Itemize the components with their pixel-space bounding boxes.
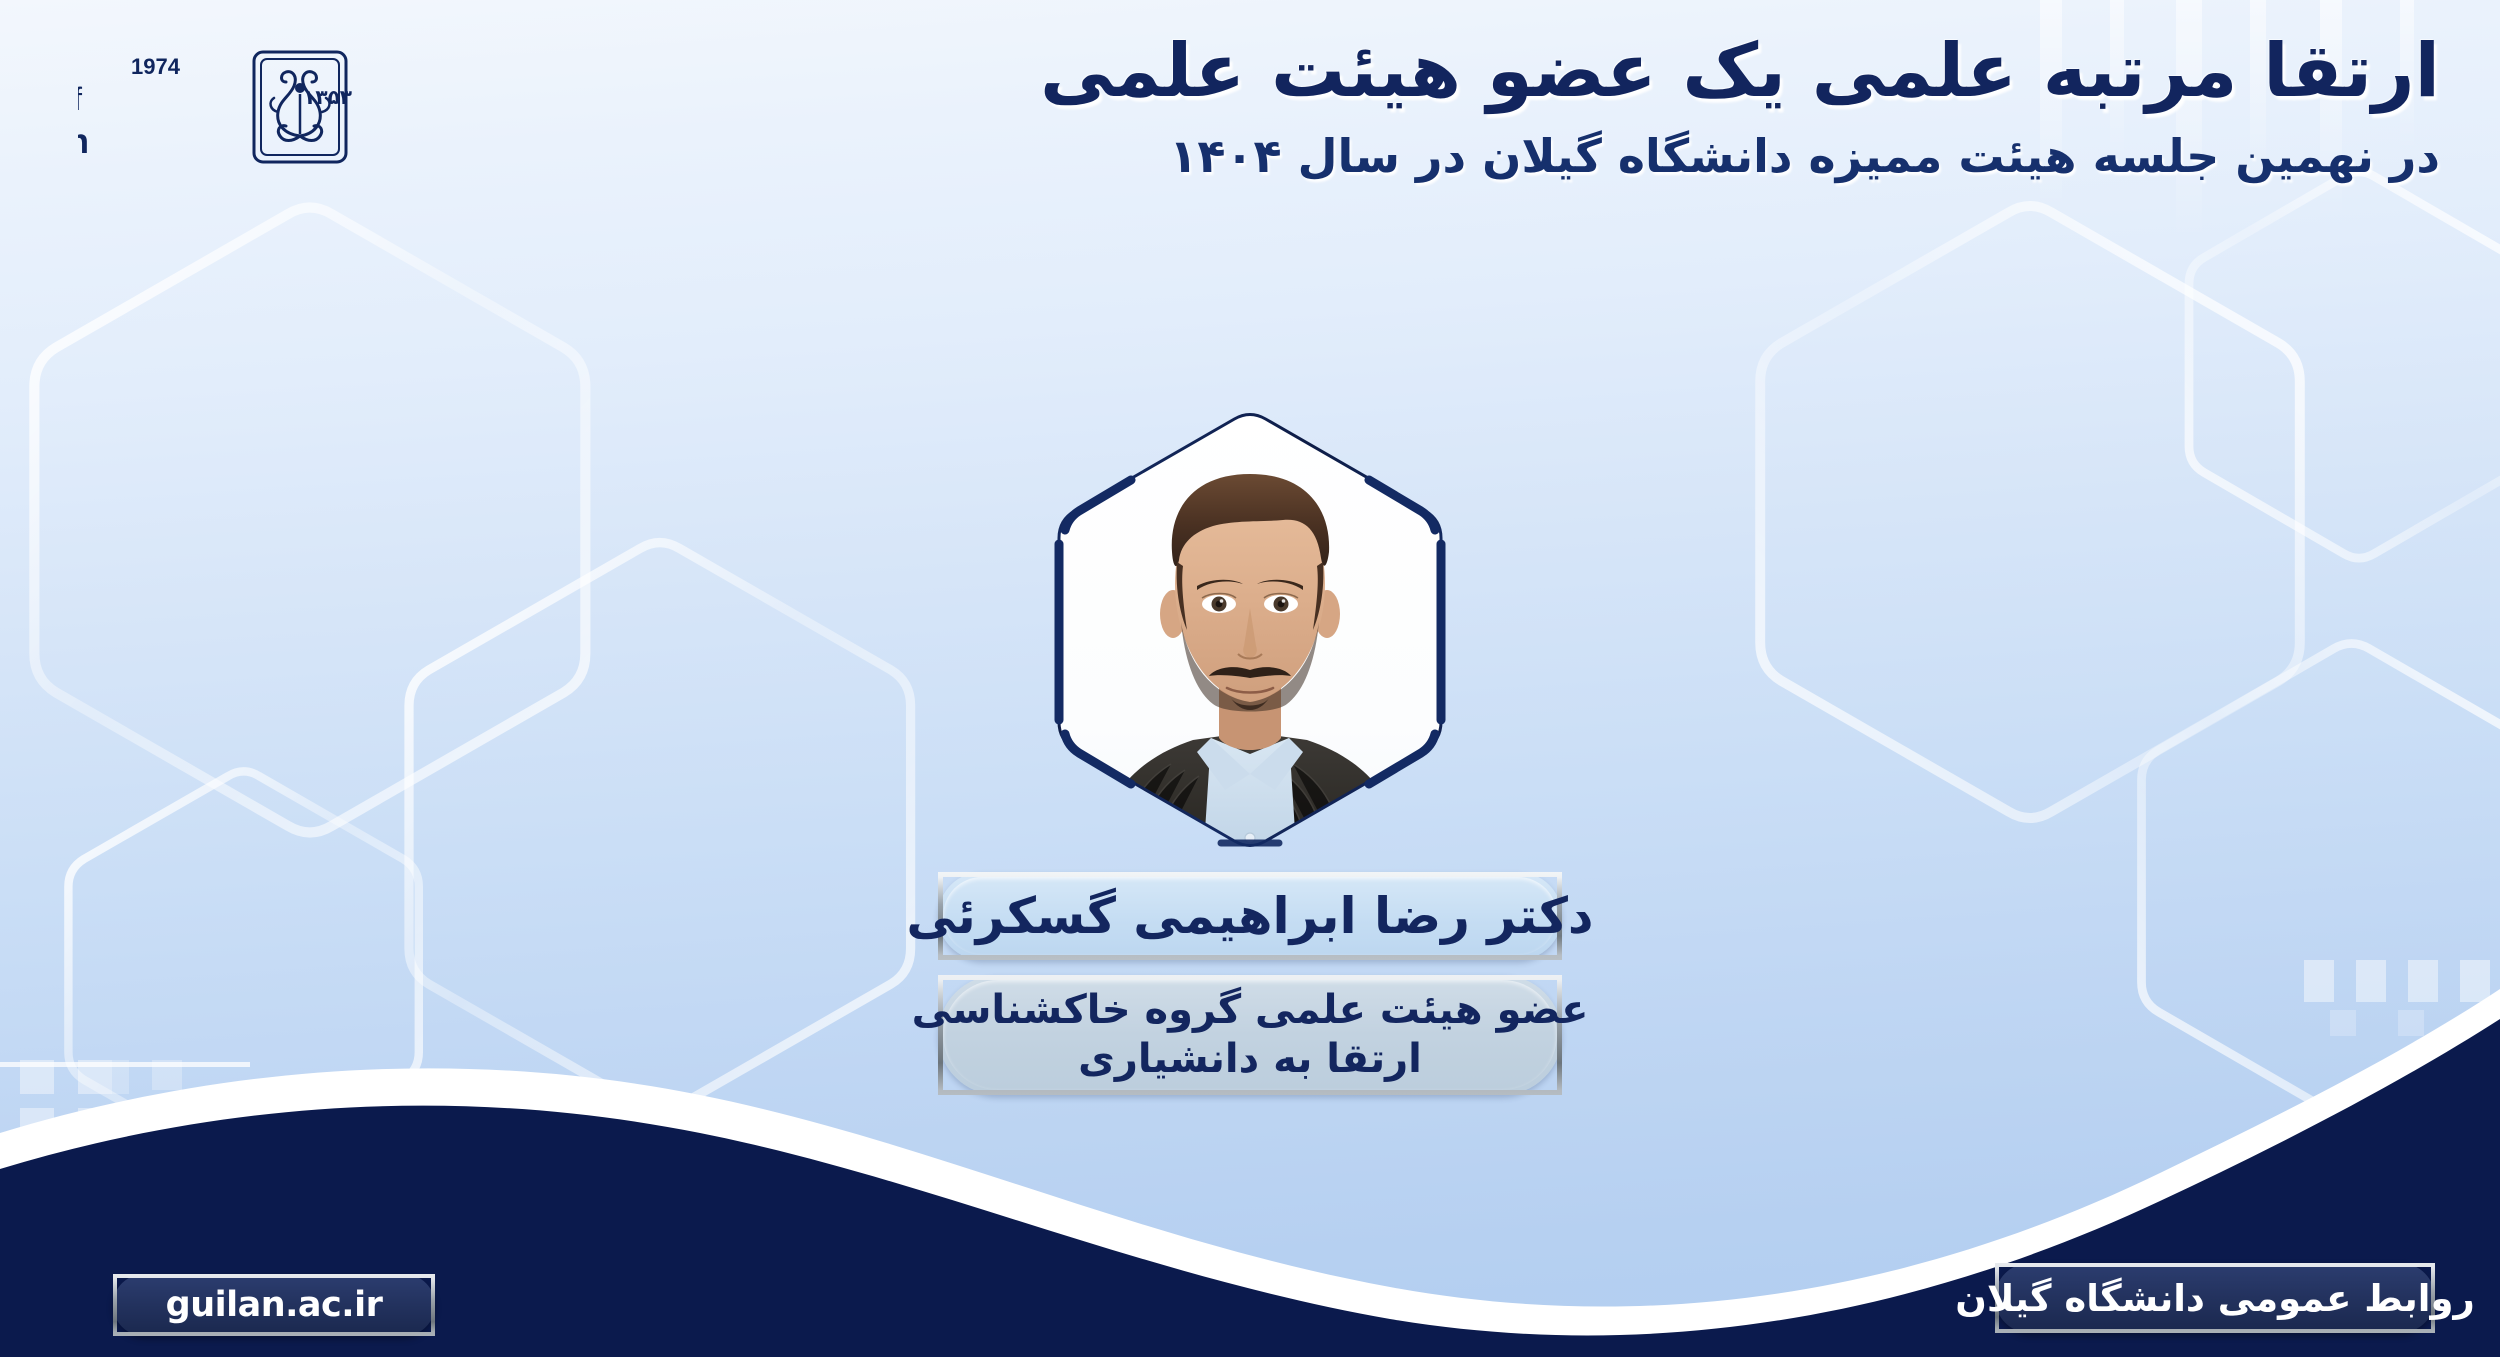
portrait-hexagon-frame — [1035, 402, 1465, 862]
public-relations-label: روابط عمومی دانشگاه گیلان — [1955, 1277, 2475, 1320]
university-logo: 1974 University of Guilan — [78, 38, 548, 173]
website-url: guilan.ac.ir — [166, 1285, 383, 1325]
page-title: ارتقا مرتبه علمی یک عضو هیئت علمی — [1030, 28, 2450, 115]
poster-root: 1974 University of Guilan — [0, 0, 2500, 1357]
portrait-photo — [1035, 402, 1465, 862]
logo-english-line1: University of — [78, 81, 82, 117]
website-badge[interactable]: guilan.ac.ir — [113, 1274, 435, 1336]
page-subtitle: در نهمین جلسه هیئت ممیزه دانشگاه گیلان د… — [1030, 127, 2450, 187]
title-block: ارتقا مرتبه علمی یک عضو هیئت علمی در نهم… — [1030, 28, 2450, 187]
public-relations-badge: روابط عمومی دانشگاه گیلان — [1995, 1263, 2435, 1333]
logo-english-line2: Guilan — [78, 122, 96, 161]
logo-year-latin: 1974 — [131, 54, 181, 79]
logo-year-persian: ۱۳۵۳ — [303, 85, 352, 109]
logo-persian-name: دانشگاه گیلان — [539, 38, 548, 142]
